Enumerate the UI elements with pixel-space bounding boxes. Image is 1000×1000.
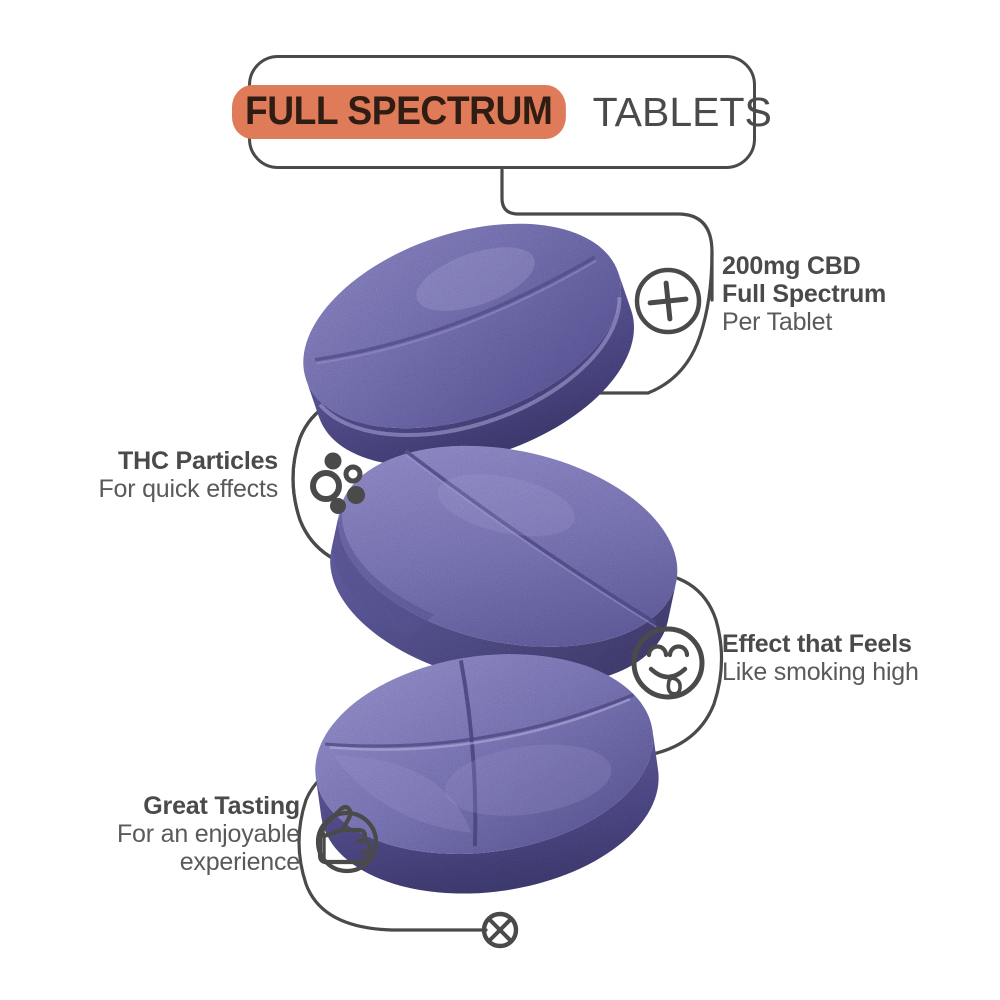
callout-thc: THC Particles For quick effects <box>78 447 278 503</box>
callout-tasting-subtitle-line1: For an enjoyable <box>80 820 300 848</box>
callout-thc-subtitle: For quick effects <box>78 475 278 503</box>
callout-effect: Effect that Feels Like smoking high <box>722 630 919 686</box>
callout-cbd-title-line1: 200mg CBD <box>722 252 886 280</box>
banner-rest-text: TABLETS <box>593 92 772 133</box>
callout-effect-title: Effect that Feels <box>722 630 919 658</box>
title-banner-inner: FULL SPECTRUM TABLETS <box>232 85 772 139</box>
callout-tasting-subtitle-line2: experience <box>80 848 300 876</box>
title-banner: FULL SPECTRUM TABLETS <box>248 55 756 169</box>
callout-thc-title: THC Particles <box>78 447 278 475</box>
callout-cbd-subtitle: Per Tablet <box>722 308 886 336</box>
callout-tasting-title: Great Tasting <box>80 792 300 820</box>
infographic-canvas: FULL SPECTRUM TABLETS 200mg CBD Full Spe… <box>0 0 1000 1000</box>
callout-cbd-title-line2: Full Spectrum <box>722 280 886 308</box>
callout-cbd: 200mg CBD Full Spectrum Per Tablet <box>722 252 886 336</box>
callout-tasting: Great Tasting For an enjoyable experienc… <box>80 792 300 876</box>
callout-effect-subtitle: Like smoking high <box>722 658 919 686</box>
banner-highlight-text: FULL SPECTRUM <box>232 85 565 139</box>
